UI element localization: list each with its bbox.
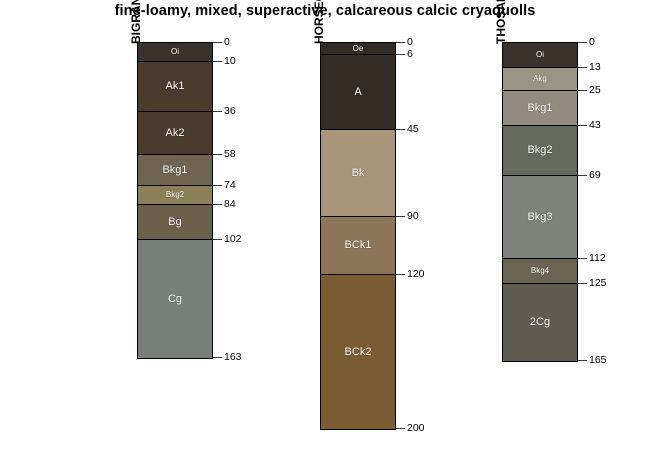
depth-tick-label: 74 [224,180,236,191]
horizon-a[interactable]: A [321,55,395,130]
depth-tick [578,125,587,126]
horizon-akg[interactable]: Akg [503,68,577,91]
horizon-ak2[interactable]: Ak2 [138,112,212,155]
depth-tick-label: 165 [589,355,607,366]
horizon-bck2[interactable]: BCk2 [321,275,395,429]
depth-tick-label: 0 [224,37,230,48]
horizon-bk[interactable]: Bk [321,130,395,217]
depth-tick-label: 6 [407,49,413,60]
horizon-2cg[interactable]: 2Cg [503,284,577,361]
depth-tick [396,42,405,43]
horizon-label: Oe [353,45,364,53]
site-label-thosand: THOSAND [494,0,508,44]
horizon-label: BCk1 [345,240,372,251]
horizon-label: A [354,87,361,98]
horizon-bkg1[interactable]: Bkg1 [138,155,212,186]
horizon-label: Bg [168,217,181,228]
horizon-label: Cg [168,294,182,305]
horizon-label: Bkg1 [527,103,552,114]
depth-tick-label: 84 [224,199,236,210]
depth-tick-label: 45 [407,124,419,135]
horizon-label: Oi [536,51,544,59]
horizon-bg[interactable]: Bg [138,205,212,240]
depth-tick-label: 36 [224,106,236,117]
site-label-horsegrass: HORSEGRASS [312,0,326,44]
horizon-label: Oi [171,48,179,56]
depth-tick-label: 90 [407,211,419,222]
horizon-bkg2[interactable]: Bkg2 [138,186,212,205]
horizon-oi[interactable]: Oi [503,43,577,68]
depth-tick [578,90,587,91]
depth-tick-label: 25 [589,85,601,96]
depth-tick-label: 43 [589,120,601,131]
depth-tick [213,239,222,240]
horizon-label: Bkg3 [527,212,552,223]
depth-tick-label: 10 [224,56,236,67]
soil-profile-chart: fine-loamy, mixed, superactive, calcareo… [0,0,650,450]
horizon-bck1[interactable]: BCk1 [321,217,395,275]
profile-column-bigrant: OiAk1Ak2Bkg1Bkg2BgCg [137,42,213,359]
horizon-label: Akg [533,75,547,83]
horizon-cg[interactable]: Cg [138,240,212,358]
depth-tick-label: 120 [407,269,425,280]
depth-tick-label: 0 [589,37,595,48]
horizon-bkg4[interactable]: Bkg4 [503,259,577,284]
horizon-oi[interactable]: Oi [138,43,212,62]
depth-tick-label: 200 [407,423,425,434]
depth-tick [396,274,405,275]
depth-tick [213,42,222,43]
horizon-label: Bkg2 [527,145,552,156]
depth-tick-label: 69 [589,170,601,181]
profile-column-horsegrass: OeABkBCk1BCk2 [320,42,396,430]
depth-tick [578,42,587,43]
depth-tick-label: 112 [589,253,606,264]
depth-tick [578,283,587,284]
depth-tick [213,185,222,186]
depth-tick-label: 125 [589,278,607,289]
horizon-label: Bkg1 [162,165,187,176]
horizon-bkg3[interactable]: Bkg3 [503,176,577,259]
depth-tick [396,428,405,429]
horizon-label: Bkg2 [166,191,184,199]
depth-tick [396,216,405,217]
depth-tick [213,154,222,155]
horizon-label: 2Cg [530,317,550,328]
horizon-bkg2[interactable]: Bkg2 [503,126,577,176]
depth-tick [213,204,222,205]
depth-tick-label: 13 [589,62,601,73]
site-label-bigrant: BIGRANT [129,0,143,44]
horizon-label: Bk [352,168,365,179]
depth-tick-label: 102 [224,234,242,245]
horizon-label: Bkg4 [531,267,549,275]
depth-tick-label: 0 [407,37,413,48]
horizon-ak1[interactable]: Ak1 [138,62,212,112]
depth-tick [578,175,587,176]
horizon-oe[interactable]: Oe [321,43,395,55]
depth-tick [396,54,405,55]
depth-tick [213,357,222,358]
horizon-label: Ak2 [166,128,185,139]
depth-tick [213,61,222,62]
horizon-label: Ak1 [166,81,185,92]
depth-tick-label: 163 [224,352,242,363]
depth-tick [578,67,587,68]
profile-column-thosand: OiAkgBkg1Bkg2Bkg3Bkg42Cg [502,42,578,362]
depth-tick [578,258,587,259]
horizon-label: BCk2 [345,347,372,358]
depth-tick [213,111,222,112]
depth-tick-label: 58 [224,149,236,160]
depth-tick [578,360,587,361]
horizon-bkg1[interactable]: Bkg1 [503,91,577,126]
depth-tick [396,129,405,130]
